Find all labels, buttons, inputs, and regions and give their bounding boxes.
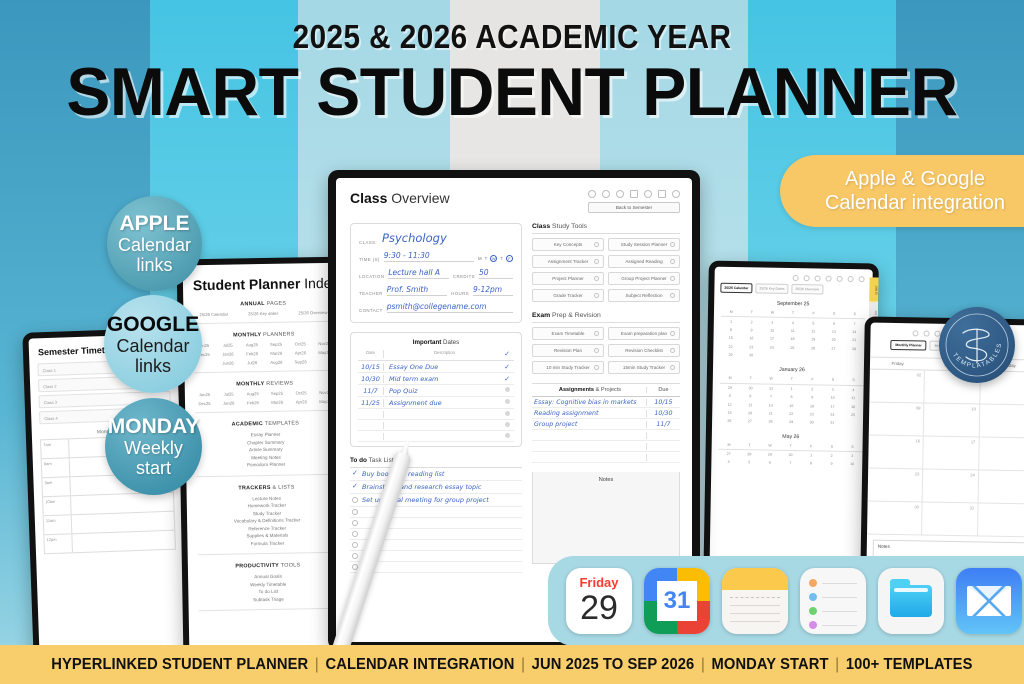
important-date-check[interactable]: [500, 399, 514, 406]
index-divider: [198, 552, 338, 555]
index-month-links: Jun25Jul25Aug25Sep25Oct25Nov25Dec25Jan26…: [185, 390, 345, 407]
calendar-integration-pill: Apple & Google Calendar integration: [780, 155, 1024, 227]
calendar-day-cell[interactable]: [782, 352, 803, 361]
todo-checkbox[interactable]: [352, 531, 358, 537]
back-to-semester-button[interactable]: Back to Semester: [588, 202, 680, 213]
tool-button[interactable]: Study Session Planner: [608, 238, 680, 251]
calendar-day-cell[interactable]: 18: [843, 402, 864, 411]
calendar-day-cell[interactable]: 9: [821, 460, 842, 469]
todo-checkbox[interactable]: ✓: [352, 471, 358, 477]
calendar-day-cell[interactable]: 28: [760, 418, 781, 427]
calendar-day-cell[interactable]: 27: [823, 344, 844, 353]
calendar-day-cell[interactable]: 29: [781, 418, 802, 427]
assignments-light: & Projects: [594, 387, 621, 393]
timetable-cell[interactable]: [72, 531, 176, 553]
class-day-t-3[interactable]: T: [500, 256, 503, 261]
monthly-day-cell[interactable]: 17: [924, 437, 980, 470]
calendar-tab[interactable]: 25/26 Overview: [791, 284, 823, 295]
calendar-week-row: 262728293031: [719, 417, 863, 428]
apple-calendar-icon[interactable]: Friday 29: [566, 568, 632, 634]
index-month-link[interactable]: Apr26: [290, 399, 313, 404]
calendar-day-cell[interactable]: 6: [759, 459, 780, 468]
col-date: Date: [358, 350, 384, 358]
calendar-day-cell[interactable]: 10: [762, 326, 783, 335]
calendar-day-cell[interactable]: 11: [782, 327, 803, 336]
calendar-day-cell[interactable]: 20: [740, 409, 761, 418]
calendar-day-cell[interactable]: 10: [842, 460, 863, 469]
todo-checkbox[interactable]: [352, 542, 358, 548]
index-divider: [199, 608, 339, 611]
calendar-day-cell[interactable]: 12: [803, 327, 824, 336]
credits-value[interactable]: 50: [479, 268, 513, 279]
monthly-day-cell[interactable]: 31: [922, 503, 978, 536]
google-calendar-date: 31: [657, 581, 697, 621]
calendar-day-cell[interactable]: [823, 352, 844, 361]
class-title-light: Overview: [387, 190, 449, 206]
calendar-day-cell[interactable]: 5: [739, 458, 760, 467]
calendar-day-cell[interactable]: [761, 351, 782, 360]
check-icon[interactable]: [837, 276, 843, 282]
calendar-day-cell[interactable]: 30: [740, 384, 761, 393]
calendar-day-cell[interactable]: [842, 419, 863, 428]
calendar-day-cell[interactable]: 25: [782, 343, 803, 352]
assignments-table: Assignments & Projects Due Essay: Cognit…: [532, 383, 680, 463]
index-month-row: Jun26Jul26Aug26Sep26: [192, 359, 336, 367]
tool-button-label: Exam preparation plan: [621, 331, 667, 336]
calendar-day-cell[interactable]: 15: [720, 334, 741, 343]
calendar-day-cell[interactable]: 24: [761, 343, 782, 352]
calendar-day-cell[interactable]: 23: [801, 410, 822, 419]
calendar-day-cell[interactable]: 12: [719, 400, 740, 409]
badge-apple-calendar-links: APPLE Calendar links: [107, 196, 202, 291]
index-month-link[interactable]: Jul26: [241, 360, 264, 365]
study-tools-bold: Class: [532, 223, 550, 230]
calendar-day-cell[interactable]: 7: [844, 319, 865, 328]
tool-button[interactable]: Grade Tracker: [532, 289, 604, 302]
assignment-row[interactable]: Reading assignment10/30: [532, 408, 680, 419]
calendar-day-cell[interactable]: 31: [822, 419, 843, 428]
todo-title-light: Task List: [367, 457, 394, 464]
calendar-day-cell[interactable]: 22: [781, 410, 802, 419]
class-notes-box[interactable]: Notes: [532, 472, 680, 564]
chevron-icon[interactable]: [670, 276, 676, 282]
book-icon[interactable]: [848, 276, 854, 282]
tool-button-label: Study Session Planner: [621, 242, 667, 247]
important-date-desc: Mid term exam: [384, 375, 500, 383]
calendar-day-cell[interactable]: 1: [721, 317, 742, 326]
search-icon[interactable]: [616, 190, 624, 198]
class-name-value[interactable]: Psychology: [382, 231, 447, 245]
monthly-day-cell[interactable]: 24: [923, 470, 979, 503]
todo-item[interactable]: ✓Buy books on reading list: [350, 468, 522, 481]
todo-checkbox[interactable]: [352, 509, 358, 515]
monthly-day-cell[interactable]: 02: [869, 370, 925, 403]
index-month-link[interactable]: Sep26: [289, 359, 312, 364]
calendar-day-cell[interactable]: 8: [721, 326, 742, 335]
location-label: Location: [359, 274, 384, 279]
calendar-day-cell[interactable]: 6: [740, 392, 761, 401]
calendar-weekday: W: [761, 375, 782, 384]
files-icon[interactable]: [878, 568, 944, 634]
calendar-day-cell[interactable]: 29: [760, 450, 781, 459]
calendar-day-cell[interactable]: 1: [781, 384, 802, 393]
monthly-day-cell[interactable]: 25: [978, 470, 1024, 503]
index-page-title: Student Planner Index: [183, 263, 343, 294]
hero-headline: 2025 & 2026 ACADEMIC YEAR SMART STUDENT …: [0, 18, 1024, 125]
chevron-icon[interactable]: [670, 365, 676, 371]
index-month-link[interactable]: Aug25: [241, 391, 264, 396]
calendar-tab[interactable]: 25/26 Key Dates: [755, 283, 788, 294]
google-calendar-icon[interactable]: 31: [644, 568, 710, 634]
link-icon[interactable]: [826, 276, 832, 282]
hero-subtitle: 2025 & 2026 ACADEMIC YEAR: [51, 18, 973, 56]
monthly-tab[interactable]: Monthly Planner: [890, 340, 927, 351]
badge-apple-line1: APPLE: [119, 212, 189, 235]
tool-button[interactable]: Exam preparation plan: [608, 327, 680, 340]
index-link[interactable]: 25/26 Calendar: [199, 312, 228, 317]
feature-bar-text: HYPERLINKED STUDENT PLANNER|CALENDAR INT…: [51, 656, 972, 674]
chevron-icon[interactable]: [670, 242, 676, 248]
index-month-link[interactable]: Sep25: [265, 391, 288, 396]
undo-icon[interactable]: [912, 330, 918, 336]
calendar-day-cell[interactable]: 4: [782, 318, 803, 327]
tool-button[interactable]: Assignment Tracker: [532, 255, 604, 268]
class-label: CLASS:: [359, 240, 377, 245]
chevron-icon[interactable]: [594, 348, 600, 354]
mail-icon[interactable]: [956, 568, 1022, 634]
calendar-day-cell[interactable]: 30: [780, 451, 801, 460]
search-icon[interactable]: [815, 275, 821, 281]
calendar-month-grid: MTWTFSS293031123456789101112131415161718…: [712, 374, 871, 428]
important-title-bold: Important: [413, 339, 442, 346]
index-month-link[interactable]: Oct25: [290, 390, 313, 395]
important-date-check[interactable]: ✓: [500, 375, 514, 383]
chevron-icon[interactable]: [594, 293, 600, 299]
index-template-link[interactable]: Subtask Triage: [188, 594, 348, 604]
todo-item[interactable]: ✓Brainstorm and research essay topic: [350, 481, 522, 494]
calendar-day-cell[interactable]: 17: [762, 335, 783, 344]
chevron-icon[interactable]: [594, 276, 600, 282]
todo-item[interactable]: Set up initial meeting for group project: [350, 494, 522, 507]
chevron-icon[interactable]: [670, 293, 676, 299]
important-date-row-empty[interactable]: [358, 431, 514, 442]
important-date-row-empty[interactable]: [358, 409, 514, 420]
important-date-row[interactable]: 10/15Essay One Due✓: [358, 361, 514, 373]
important-date-check[interactable]: [500, 387, 514, 394]
calendar-day-cell[interactable]: 31: [761, 384, 782, 393]
calendar-day-cell[interactable]: 28: [739, 450, 760, 459]
book-icon[interactable]: [658, 190, 666, 198]
calendar-day-cell[interactable]: 13: [823, 327, 844, 336]
teacher-label: Teacher: [359, 291, 383, 296]
index-month-link[interactable]: Sep25: [265, 342, 288, 347]
index-link[interactable]: 25/26 Overview: [298, 310, 327, 316]
calendar-weekday: S: [823, 376, 844, 385]
calendar-day-cell[interactable]: 20: [823, 336, 844, 345]
badge-monday-line2: Weekly: [124, 438, 183, 458]
index-link[interactable]: 25/26 Key dates: [248, 311, 278, 317]
exam-prep-buttons[interactable]: Exam TimetableExam preparation planRevis…: [532, 327, 680, 374]
month-tab[interactable]: JUN 25: [869, 277, 878, 302]
home-icon[interactable]: [672, 190, 680, 198]
index-month-link[interactable]: Dec25: [193, 401, 216, 406]
home-icon[interactable]: [859, 276, 865, 282]
calendar-day-cell[interactable]: 16: [741, 334, 762, 343]
calendar-day-cell[interactable]: 9: [741, 326, 762, 335]
important-date-check[interactable]: ✓: [500, 363, 514, 371]
assignment-row[interactable]: Group project11/7: [532, 419, 680, 430]
study-tools-buttons[interactable]: Key ConceptsStudy Session PlannerAssignm…: [532, 238, 680, 302]
tool-button-label: Subject Reflection: [625, 293, 662, 298]
badge-google-calendar-links: GOOGLE Calendar links: [104, 295, 202, 393]
calendar-day-cell[interactable]: 18: [782, 335, 803, 344]
calendar-day-cell[interactable]: 23: [741, 343, 762, 352]
calendar-day-cell[interactable]: 4: [718, 458, 739, 467]
calendar-day-cell[interactable]: 2: [802, 385, 823, 394]
chevron-icon[interactable]: [670, 348, 676, 354]
timetable-cell[interactable]: [71, 493, 175, 515]
calendar-day-cell[interactable]: 2: [821, 451, 842, 460]
monthly-week-row: 3031: [867, 502, 1024, 538]
notes-icon[interactable]: [722, 568, 788, 634]
tool-button-label: Key Concepts: [554, 242, 583, 247]
monthly-day-cell[interactable]: 23: [868, 469, 924, 502]
calendar-day-cell[interactable]: 17: [822, 402, 843, 411]
feature-item: JUN 2025 TO SEP 2026: [532, 656, 695, 673]
class-day-f-4[interactable]: F: [506, 255, 513, 262]
time-value[interactable]: 9:30 - 11:30: [384, 251, 474, 262]
calendar-tab-bar[interactable]: 25/26 Calendar25/26 Key Dates25/26 Overv…: [714, 280, 872, 296]
calendar-tab[interactable]: 25/26 Calendar: [720, 283, 752, 294]
index-month-row: Dec25Jan26Feb26Mar26Apr26May26: [193, 399, 337, 407]
time-label: Time (s): [359, 257, 380, 262]
class-day-w-2[interactable]: W: [490, 255, 497, 262]
index-month-link[interactable]: Jul25: [217, 391, 240, 396]
templatables-logo: TEMPLATABLES: [939, 307, 1015, 383]
important-date-desc: Assignment due: [384, 399, 500, 407]
calendar-day-cell[interactable]: 14: [760, 401, 781, 410]
tool-button[interactable]: Revision Plan: [532, 344, 604, 357]
monthly-day-cell[interactable]: 10: [924, 404, 980, 437]
index-month-link[interactable]: Jan26: [217, 400, 240, 405]
important-date-desc: Pop Quiz: [384, 387, 500, 395]
calendar-day-cell[interactable]: 26: [719, 417, 740, 426]
timetable-cell[interactable]: [72, 512, 176, 534]
undo-icon[interactable]: [588, 190, 596, 198]
index-month-link[interactable]: Apr26: [289, 350, 312, 355]
class-days-selector[interactable]: MTWTF: [478, 255, 513, 262]
calendar-day-cell[interactable]: 4: [843, 386, 864, 395]
calendar-day-cell[interactable]: 3: [762, 318, 783, 327]
monthly-day-cell[interactable]: 16: [868, 436, 924, 469]
tool-button[interactable]: Revision Checklist: [608, 344, 680, 357]
calendar-day-cell[interactable]: 7: [780, 459, 801, 468]
monthly-day-cell[interactable]: 11: [979, 404, 1024, 437]
hero-title: SMART STUDENT PLANNER: [15, 60, 1008, 125]
reminders-icon[interactable]: [800, 568, 866, 634]
calendar-day-cell[interactable]: 13: [740, 400, 761, 409]
monthly-day-cell[interactable]: 09: [869, 403, 925, 436]
index-month-link[interactable]: Jul25: [216, 342, 239, 347]
assignment-row-empty[interactable]: [532, 441, 680, 452]
calendar-day-cell[interactable]: [844, 353, 865, 362]
index-divider: [195, 410, 335, 413]
calendar-day-cell[interactable]: 22: [720, 342, 741, 351]
badge-monday-line1: MONDAY: [108, 415, 199, 438]
calendar-weekday: S: [843, 376, 864, 385]
calendar-day-cell[interactable]: 15: [781, 401, 802, 410]
hours-value[interactable]: 9-12pm: [473, 285, 513, 296]
calendar-day-cell[interactable]: 16: [802, 402, 823, 411]
index-month-link[interactable]: Aug25: [240, 342, 263, 347]
calendar-day-cell[interactable]: 19: [719, 408, 740, 417]
important-dates-card: Important Dates Date Description ✓ 10/15…: [350, 332, 522, 447]
calendar-day-cell[interactable]: 26: [803, 344, 824, 353]
calendar-day-cell[interactable]: 5: [719, 392, 740, 401]
index-divider: [196, 473, 336, 476]
class-day-t-1[interactable]: T: [485, 256, 488, 261]
index-month-link[interactable]: Mar26: [266, 400, 289, 405]
index-month-row: Jun25Jul25Aug25Sep25Oct25Nov25: [193, 390, 337, 398]
chevron-icon[interactable]: [670, 259, 676, 265]
pill-line1: Apple & Google: [780, 167, 1024, 191]
calendar-day-cell[interactable]: 24: [822, 410, 843, 419]
chevron-icon[interactable]: [594, 242, 600, 248]
calendar-day-cell[interactable]: 9: [802, 393, 823, 402]
index-month-link[interactable]: Feb26: [241, 400, 264, 405]
tool-button[interactable]: Subject Reflection: [608, 289, 680, 302]
calendar-day-cell[interactable]: 21: [844, 336, 865, 345]
calendar-day-cell[interactable]: 7: [761, 392, 782, 401]
index-month-link[interactable]: Jun26: [216, 360, 239, 365]
tool-button-label: Assignment Tracker: [548, 259, 589, 264]
assignment-row[interactable]: Essay: Cognitive bias in markets10/15: [532, 397, 680, 408]
calendar-day-cell[interactable]: 28: [844, 344, 865, 353]
index-section-heading: ANNUAL PAGES: [183, 300, 343, 309]
chevron-icon[interactable]: [594, 259, 600, 265]
calendar-day-cell[interactable]: 3: [822, 385, 843, 394]
calendar-day-cell[interactable]: 6: [824, 319, 845, 328]
assignment-row-empty[interactable]: [532, 430, 680, 441]
contact-value[interactable]: psmith@collegename.com: [387, 302, 513, 313]
assignments-rows: Essay: Cognitive bias in markets10/15Rea…: [532, 397, 680, 463]
timetable-hour-label: 7am: [41, 439, 70, 458]
redo-icon[interactable]: [923, 330, 929, 336]
chevron-icon[interactable]: [594, 365, 600, 371]
monthly-day-cell[interactable]: [978, 503, 1024, 536]
calendar-weekday: S: [821, 442, 842, 451]
teacher-value[interactable]: Prof. Smith: [387, 285, 447, 296]
important-date-row[interactable]: 10/30Mid term exam✓: [358, 373, 514, 385]
todo-checkbox[interactable]: [352, 520, 358, 526]
calendar-day-cell[interactable]: 27: [740, 417, 761, 426]
calendar-day-cell[interactable]: 3: [842, 452, 863, 461]
tool-button[interactable]: Group Project Planner: [608, 272, 680, 285]
tool-button-label: 15min Study Tracker: [623, 365, 665, 370]
badge-google-line2: Calendar: [116, 336, 189, 356]
todo-checkbox[interactable]: [352, 553, 358, 559]
todo-checkbox[interactable]: [352, 497, 358, 503]
tool-button-label: Revision Checklist: [625, 348, 663, 353]
monthly-day-cell[interactable]: 18: [979, 437, 1024, 470]
important-date-row-empty[interactable]: [358, 420, 514, 431]
app-icon-dock: Friday 29 31: [548, 556, 1024, 646]
calendar-day-cell[interactable]: 25: [843, 411, 864, 420]
assignment-name: Reading assignment: [532, 410, 646, 417]
badge-google-line1: GOOGLE: [107, 313, 199, 336]
tool-button[interactable]: Exam Timetable: [532, 327, 604, 340]
tool-button[interactable]: 10 min Study Tracker: [532, 361, 604, 374]
calendar-day-cell[interactable]: 29: [720, 383, 741, 392]
redo-icon[interactable]: [804, 275, 810, 281]
class-day-m-0[interactable]: M: [478, 256, 482, 261]
tool-button[interactable]: 15min Study Tracker: [608, 361, 680, 374]
assignment-row-empty[interactable]: [532, 452, 680, 463]
calendar-day-cell[interactable]: 11: [843, 394, 864, 403]
check-icon[interactable]: [644, 190, 652, 198]
feature-item: MONDAY START: [712, 656, 829, 673]
calendar-day-cell[interactable]: 2: [741, 317, 762, 326]
tool-button[interactable]: Key Concepts: [532, 238, 604, 251]
important-date-row[interactable]: 11/7Pop Quiz: [358, 385, 514, 397]
calendar-day-cell[interactable]: 14: [844, 328, 865, 337]
calendar-week-row: 2930: [720, 351, 864, 362]
calendar-day-cell[interactable]: 5: [803, 319, 824, 328]
calendar-weekday: M: [719, 440, 740, 449]
tool-button[interactable]: Assigned Reading: [608, 255, 680, 268]
assignment-name: Essay: Cognitive bias in markets: [532, 399, 646, 406]
index-month-link[interactable]: Jun25: [193, 392, 216, 397]
tool-button[interactable]: Project Planner: [532, 272, 604, 285]
chevron-icon[interactable]: [670, 331, 676, 337]
chevron-icon[interactable]: [594, 331, 600, 337]
assignments-bold: Assignments: [559, 387, 594, 393]
calendar-day-cell[interactable]: 21: [760, 409, 781, 418]
calendar-weekday: T: [740, 374, 761, 383]
todo-checkbox[interactable]: ✓: [352, 484, 358, 490]
index-month-link[interactable]: Feb26: [241, 351, 264, 356]
calendar-day-cell[interactable]: 8: [801, 459, 822, 468]
calendar-day-cell[interactable]: 10: [822, 394, 843, 403]
calendar-day-cell[interactable]: 30: [801, 418, 822, 427]
index-template-link[interactable]: Formula Tracker: [187, 538, 347, 548]
undo-icon[interactable]: [793, 275, 799, 281]
location-value[interactable]: Lecture hall A: [388, 268, 449, 279]
assignment-name: Group project: [532, 421, 646, 428]
important-date-row[interactable]: 11/25Assignment due: [358, 397, 514, 409]
calendar-day-cell[interactable]: 1: [801, 451, 822, 460]
calendar-day-cell[interactable]: [802, 352, 823, 361]
calendar-months: September 25MTWTFSS123456789101112131415…: [711, 300, 872, 469]
index-month-link[interactable]: Oct25: [289, 341, 312, 346]
link-icon[interactable]: [630, 190, 638, 198]
index-template-link[interactable]: Pomodoro Planner: [186, 460, 346, 470]
timetable-hour-label: 8am: [42, 458, 71, 477]
badge-monday-line3: start: [136, 458, 171, 478]
index-month-link[interactable]: Jan26: [216, 351, 239, 356]
index-month-link[interactable]: Mar26: [265, 351, 288, 356]
redo-icon[interactable]: [602, 190, 610, 198]
calendar-day-cell[interactable]: 19: [803, 335, 824, 344]
index-month-link[interactable]: Aug26: [265, 360, 288, 365]
calendar-day-cell[interactable]: 27: [718, 450, 739, 459]
calendar-day-cell[interactable]: 30: [741, 351, 762, 360]
calendar-day-cell[interactable]: 29: [720, 351, 741, 360]
todo-title: To do Task List: [350, 457, 522, 468]
monthly-day-cell[interactable]: 30: [867, 502, 923, 535]
class-title-bold: Class: [350, 190, 387, 206]
calendar-day-cell[interactable]: 8: [781, 393, 802, 402]
